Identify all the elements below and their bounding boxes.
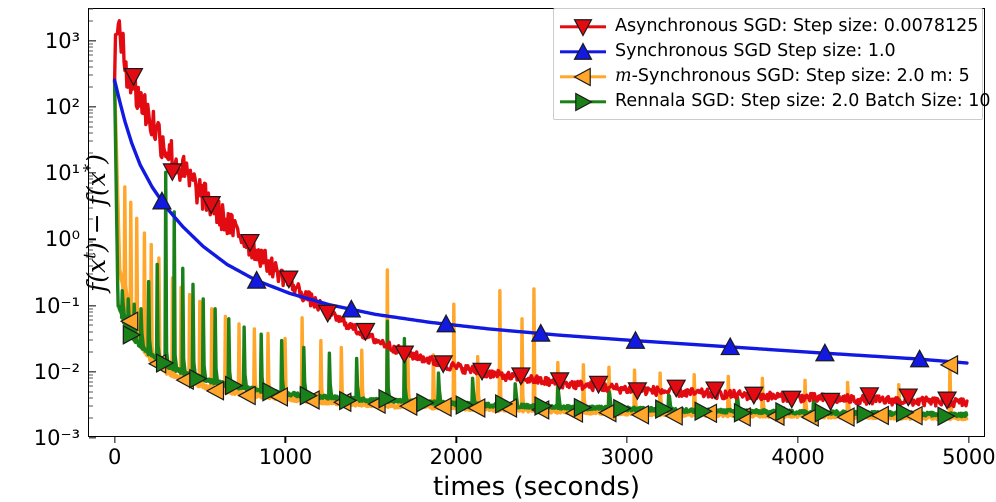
y-minor-tick [89,60,93,61]
y-tick-mark [89,106,96,107]
x-tick-mark [285,436,286,443]
y-minor-tick [89,66,93,67]
y-tick-label: 10³ [45,29,80,53]
y-minor-tick [89,382,93,383]
y-tick-mark [89,437,96,438]
legend-marker-triangle-down-icon [571,15,595,39]
y-minor-tick [89,265,93,266]
y-minor-tick [89,141,93,142]
x-tick-mark [797,436,798,443]
y-minor-tick [89,398,93,399]
y-minor-tick [89,193,93,194]
legend-label: Synchronous SGD Step size: 1.0 [615,43,896,61]
series-marker-synchronous-sgd [248,272,266,289]
y-minor-tick [89,374,93,375]
y-tick-mark [89,40,96,41]
y-minor-tick [89,308,93,309]
y-minor-tick [89,245,93,246]
legend-swatch [560,91,606,113]
y-minor-tick [89,133,93,134]
legend-label: m-Synchronous SGD: Step size: 2.0 m: 5 [615,68,970,86]
y-minor-tick [89,406,93,407]
series-line-rennala-sgd [115,81,967,416]
y-minor-tick [89,20,93,21]
y-minor-tick [89,176,93,177]
series-marker-m-synchronous-sgd [872,406,889,424]
y-minor-tick [89,55,93,56]
y-minor-tick [89,311,93,312]
x-axis-label: times (seconds) [433,472,640,502]
x-tick-label: 5000 [942,445,995,469]
y-minor-tick [89,386,93,387]
figure: f(xt) − f(x*) 10³10²10¹10⁰10⁻¹10⁻²10⁻³ 0… [0,0,996,497]
y-tick-label: 10⁻¹ [34,294,80,318]
y-minor-tick [89,340,93,341]
series-marker-rennala-sgd [857,405,874,423]
x-tick-label: 0 [108,445,121,469]
y-minor-tick [89,253,93,254]
legend-item: Synchronous SGD Step size: 1.0 [560,39,974,64]
y-minor-tick [89,179,93,180]
y-minor-tick [89,242,93,243]
y-minor-tick [89,418,93,419]
y-minor-tick [89,75,93,76]
legend-marker-triangle-up-icon [571,40,595,64]
y-tick-label: 10⁻³ [34,426,80,450]
y-minor-tick [89,117,93,118]
y-minor-tick [89,320,93,321]
x-tick-label: 1000 [259,445,312,469]
y-minor-tick [89,109,93,110]
y-tick-label: 10² [45,95,80,119]
y-minor-tick [89,249,93,250]
y-minor-tick [89,259,93,260]
legend-marker-triangle-left-icon [571,65,595,89]
x-tick-mark [968,436,969,443]
y-tick-label: 10⁻² [34,360,80,384]
y-minor-tick [89,47,93,48]
y-minor-tick [89,351,93,352]
legend-item: Rennala SGD: Step size: 2.0 Batch Size: … [560,89,974,114]
legend-label: Asynchronous SGD: Step size: 0.0078125 [615,18,978,36]
x-tick-label: 2000 [430,445,483,469]
y-tick-label: 10⁰ [45,227,80,251]
y-minor-tick [89,378,93,379]
x-tick-label: 4000 [771,445,824,469]
x-tick-mark [627,436,628,443]
y-tick-mark [89,172,96,173]
series-line-synchronous-sgd [115,80,967,363]
y-minor-tick [89,199,93,200]
legend-item: Asynchronous SGD: Step size: 0.0078125 [560,14,974,39]
y-minor-tick [89,315,93,316]
y-minor-tick [89,113,93,114]
legend-swatch [560,16,606,38]
y-minor-tick [89,187,93,188]
y-tick-label: 10¹ [45,161,80,185]
legend-marker-triangle-right-icon [571,90,595,114]
legend-item: m-Synchronous SGD: Step size: 2.0 m: 5 [560,64,974,89]
y-tick-mark [89,305,96,306]
x-tick-mark [114,436,115,443]
y-minor-tick [89,285,93,286]
y-axis-label: f(xt) − f(x*) [81,154,111,292]
legend-swatch [560,66,606,88]
y-minor-tick [89,153,93,154]
y-minor-tick [89,219,93,220]
y-tick-mark [89,239,96,240]
y-minor-tick [89,43,93,44]
y-tick-mark [89,371,96,372]
y-minor-tick [89,391,93,392]
y-minor-tick [89,9,93,10]
y-minor-tick [89,86,93,87]
y-minor-tick [89,121,93,122]
legend: Asynchronous SGD: Step size: 0.0078125Sy… [553,8,983,120]
legend-swatch [560,41,606,63]
y-minor-tick [89,325,93,326]
y-minor-tick [89,126,93,127]
legend-label: Rennala SGD: Step size: 2.0 Batch Size: … [615,93,991,111]
y-minor-tick [89,50,93,51]
y-minor-tick [89,331,93,332]
y-minor-tick [89,207,93,208]
y-minor-tick [89,273,93,274]
y-minor-tick [89,183,93,184]
x-tick-mark [456,436,457,443]
x-tick-label: 3000 [600,445,653,469]
